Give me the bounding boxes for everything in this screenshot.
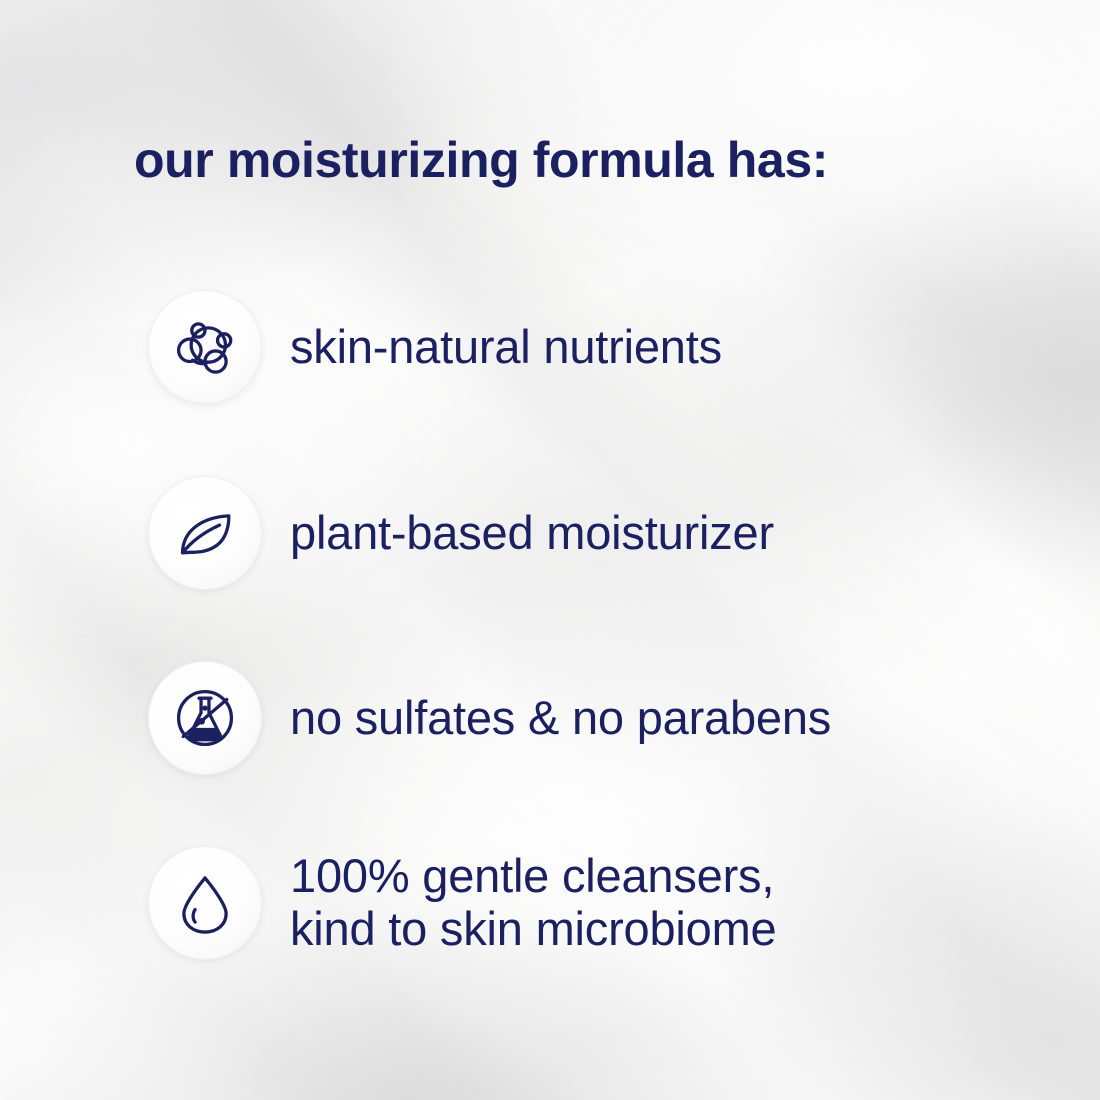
- promo-graphic: our moisturizing formula has: skin-natur…: [0, 0, 1100, 1100]
- benefit-item: skin-natural nutrients: [148, 290, 1048, 404]
- benefit-item: 100% gentle cleansers, kind to skin micr…: [148, 846, 1048, 960]
- benefit-label: 100% gentle cleansers, kind to skin micr…: [290, 850, 776, 955]
- no-flask-icon: [172, 685, 238, 751]
- benefit-label: no sulfates & no parabens: [290, 692, 831, 745]
- benefit-item: plant-based moisturizer: [148, 476, 1048, 590]
- icon-badge: [148, 661, 262, 775]
- benefit-label: plant-based moisturizer: [290, 507, 774, 560]
- bubble-cluster-icon: [172, 314, 238, 380]
- page-title: our moisturizing formula has:: [134, 131, 828, 189]
- benefit-item: no sulfates & no parabens: [148, 661, 1048, 775]
- icon-badge: [148, 476, 262, 590]
- content-layer: our moisturizing formula has: skin-natur…: [0, 0, 1100, 1100]
- water-droplet-icon: [172, 870, 238, 936]
- icon-badge: [148, 846, 262, 960]
- leaf-icon: [172, 500, 238, 566]
- icon-badge: [148, 290, 262, 404]
- benefit-label: skin-natural nutrients: [290, 321, 722, 374]
